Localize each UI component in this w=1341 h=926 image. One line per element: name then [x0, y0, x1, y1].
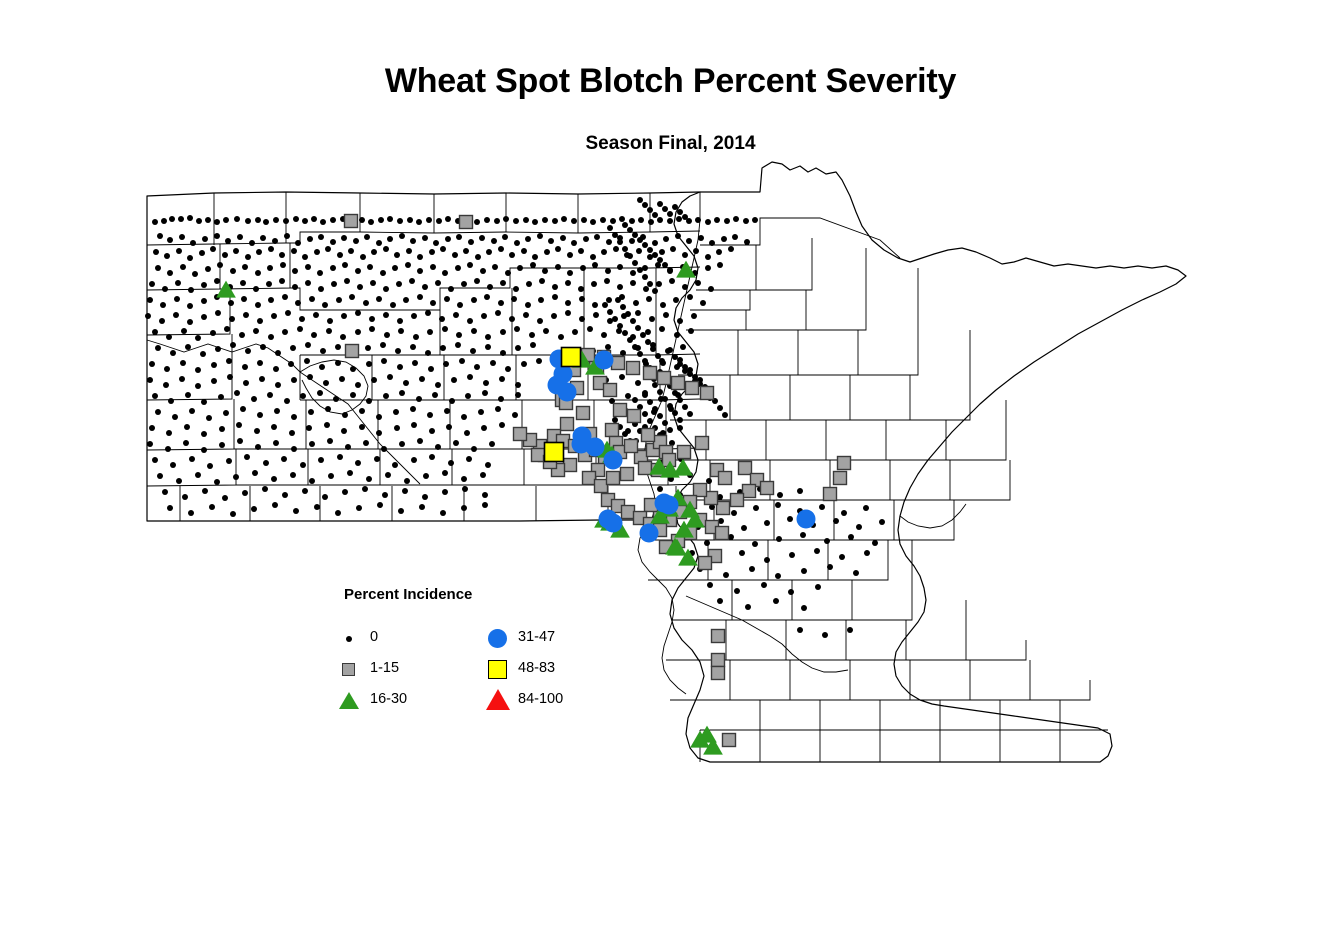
data-point-small-black-dot [214, 233, 220, 239]
data-point-small-black-dot [625, 393, 631, 399]
data-point-gray-square [716, 527, 729, 540]
data-point-small-black-dot [513, 286, 519, 292]
data-point-small-black-dot [187, 215, 193, 221]
data-point-small-black-dot [163, 382, 169, 388]
data-point-small-black-dot [797, 488, 803, 494]
data-point-small-black-dot [174, 296, 180, 302]
data-point-small-black-dot [669, 278, 675, 284]
data-point-yellow-square [545, 443, 564, 462]
data-point-small-black-dot [181, 328, 187, 334]
data-point-small-black-dot [417, 438, 423, 444]
data-point-small-black-dot [366, 398, 372, 404]
data-point-small-black-dot [532, 254, 538, 260]
data-point-small-black-dot [652, 406, 658, 412]
data-point-gray-square [838, 457, 851, 470]
data-point-small-black-dot [637, 351, 643, 357]
data-point-small-black-dot [652, 212, 658, 218]
data-point-small-black-dot [691, 313, 697, 319]
data-point-small-black-dot [552, 284, 558, 290]
data-point-small-black-dot [240, 280, 246, 286]
data-point-small-black-dot [273, 217, 279, 223]
data-point-small-black-dot [288, 361, 294, 367]
data-point-small-black-dot [479, 235, 485, 241]
data-point-small-black-dot [152, 457, 158, 463]
data-point-small-black-dot [827, 564, 833, 570]
data-point-small-black-dot [629, 218, 635, 224]
data-point-small-black-dot [226, 358, 232, 364]
data-point-small-black-dot [648, 219, 654, 225]
data-point-small-black-dot [397, 218, 403, 224]
data-point-small-black-dot [330, 217, 336, 223]
data-point-small-black-dot [383, 246, 389, 252]
data-point-small-black-dot [630, 280, 636, 286]
data-point-small-black-dot [480, 268, 486, 274]
data-point-small-black-dot [207, 463, 213, 469]
data-point-small-black-dot [475, 254, 481, 260]
gray-square-icon [338, 657, 364, 681]
data-point-small-black-dot [663, 312, 669, 318]
data-point-small-black-dot [833, 518, 839, 524]
data-point-small-black-dot [552, 294, 558, 300]
data-point-small-black-dot [376, 296, 382, 302]
data-point-small-black-dot [494, 218, 500, 224]
data-point-small-black-dot [363, 440, 369, 446]
data-point-small-black-dot [167, 270, 173, 276]
data-point-small-black-dot [529, 332, 535, 338]
data-point-small-black-dot [485, 334, 491, 340]
data-point-small-black-dot [662, 396, 668, 402]
data-point-small-black-dot [705, 254, 711, 260]
data-point-small-black-dot [652, 252, 658, 258]
data-point-small-black-dot [511, 296, 517, 302]
data-point-small-black-dot [617, 323, 623, 329]
data-point-small-black-dot [455, 265, 461, 271]
data-point-small-black-dot [304, 358, 310, 364]
data-point-small-black-dot [610, 218, 616, 224]
data-point-small-black-dot [366, 476, 372, 482]
data-point-small-black-dot [242, 490, 248, 496]
data-point-small-black-dot [555, 264, 561, 270]
data-point-blue-circle [604, 451, 623, 470]
data-point-small-black-dot [733, 216, 739, 222]
data-point-small-black-dot [381, 358, 387, 364]
data-point-small-black-dot [622, 246, 628, 252]
data-point-small-black-dot [606, 239, 612, 245]
data-point-small-black-dot [318, 234, 324, 240]
data-point-small-black-dot [271, 313, 277, 319]
data-point-small-black-dot [275, 382, 281, 388]
data-point-small-black-dot [284, 233, 290, 239]
data-point-gray-square [834, 472, 847, 485]
data-point-small-black-dot [432, 392, 438, 398]
data-point-small-black-dot [410, 344, 416, 350]
data-point-small-black-dot [627, 337, 633, 343]
data-point-small-black-dot [271, 476, 277, 482]
data-point-small-black-dot [523, 217, 529, 223]
data-point-small-black-dot [667, 218, 673, 224]
data-point-gray-square [625, 440, 638, 453]
data-point-small-black-dot [275, 350, 281, 356]
data-point-small-black-dot [615, 297, 621, 303]
data-point-small-black-dot [657, 486, 663, 492]
data-point-small-black-dot [647, 418, 653, 424]
data-point-small-black-dot [693, 248, 699, 254]
data-point-small-black-dot [442, 326, 448, 332]
data-point-small-black-dot [293, 508, 299, 514]
data-point-gray-square [719, 472, 732, 485]
data-point-small-black-dot [743, 218, 749, 224]
data-point-small-black-dot [601, 249, 607, 255]
data-point-small-black-dot [629, 238, 635, 244]
data-point-small-black-dot [187, 255, 193, 261]
data-point-small-black-dot [255, 270, 261, 276]
data-point-blue-circle [573, 427, 592, 446]
data-point-small-black-dot [170, 350, 176, 356]
data-point-small-black-dot [605, 268, 611, 274]
data-point-small-black-dot [291, 377, 297, 383]
data-point-small-black-dot [195, 335, 201, 341]
data-point-small-black-dot [410, 406, 416, 412]
data-point-small-black-dot [463, 248, 469, 254]
data-point-small-black-dot [717, 262, 723, 268]
data-point-small-black-dot [267, 265, 273, 271]
data-point-small-black-dot [617, 264, 623, 270]
data-point-small-black-dot [289, 430, 295, 436]
data-point-small-black-dot [700, 300, 706, 306]
data-point-small-black-dot [707, 582, 713, 588]
data-point-gray-square [514, 428, 527, 441]
data-point-small-black-dot [637, 237, 643, 243]
data-point-small-black-dot [182, 494, 188, 500]
data-point-small-black-dot [552, 218, 558, 224]
data-point-small-black-dot [687, 371, 693, 377]
data-point-small-black-dot [205, 217, 211, 223]
data-point-small-black-dot [517, 265, 523, 271]
data-point-small-black-dot [188, 287, 194, 293]
data-point-gray-square [694, 484, 707, 497]
data-point-small-black-dot [548, 238, 554, 244]
data-point-small-black-dot [677, 417, 683, 423]
data-point-small-black-dot [167, 505, 173, 511]
data-point-small-black-dot [642, 358, 648, 364]
data-point-small-black-dot [708, 286, 714, 292]
data-point-small-black-dot [839, 554, 845, 560]
data-point-small-black-dot [399, 390, 405, 396]
data-point-small-black-dot [253, 328, 259, 334]
data-point-small-black-dot [166, 430, 172, 436]
data-point-small-black-dot [657, 217, 663, 223]
data-point-gray-square [561, 418, 574, 431]
data-point-small-black-dot [209, 504, 215, 510]
data-point-small-black-dot [322, 302, 328, 308]
data-point-small-black-dot [514, 326, 520, 332]
data-point-small-black-dot [317, 390, 323, 396]
data-point-small-black-dot [642, 202, 648, 208]
data-point-small-black-dot [179, 376, 185, 382]
data-point-small-black-dot [642, 242, 648, 248]
data-point-small-black-dot [657, 413, 663, 419]
data-point-small-black-dot [189, 456, 195, 462]
data-point-small-black-dot [227, 374, 233, 380]
data-point-small-black-dot [512, 412, 518, 418]
data-point-small-black-dot [647, 207, 653, 213]
data-point-small-black-dot [396, 281, 402, 287]
data-point-small-black-dot [530, 262, 536, 268]
data-point-small-black-dot [716, 249, 722, 255]
data-point-small-black-dot [371, 249, 377, 255]
data-point-small-black-dot [398, 508, 404, 514]
data-point-small-black-dot [164, 253, 170, 259]
data-point-small-black-dot [579, 296, 585, 302]
data-point-small-black-dot [567, 252, 573, 258]
data-point-small-black-dot [717, 598, 723, 604]
data-point-small-black-dot [544, 249, 550, 255]
data-point-gray-square [731, 494, 744, 507]
data-point-small-black-dot [663, 236, 669, 242]
data-point-small-black-dot [260, 344, 266, 350]
data-point-small-black-dot [387, 216, 393, 222]
data-point-small-black-dot [429, 428, 435, 434]
data-point-small-black-dot [355, 310, 361, 316]
data-point-gray-square [717, 502, 730, 515]
data-point-small-black-dot [705, 265, 711, 271]
data-point-gray-square [639, 462, 652, 475]
data-point-small-black-dot [222, 495, 228, 501]
data-point-blue-circle [655, 494, 674, 513]
data-point-small-black-dot [489, 441, 495, 447]
data-point-small-black-dot [672, 354, 678, 360]
data-point-small-black-dot [467, 318, 473, 324]
data-point-small-black-dot [392, 265, 398, 271]
data-point-small-black-dot [656, 281, 662, 287]
data-point-small-black-dot [455, 342, 461, 348]
data-point-small-black-dot [149, 361, 155, 367]
data-point-small-black-dot [495, 406, 501, 412]
data-point-small-black-dot [229, 316, 235, 322]
data-point-small-black-dot [290, 472, 296, 478]
legend-item-label: 31-47 [518, 629, 555, 645]
data-point-small-black-dot [444, 408, 450, 414]
data-point-small-black-dot [223, 217, 229, 223]
data-point-small-black-dot [152, 219, 158, 225]
data-point-small-black-dot [572, 329, 578, 335]
legend-item-label: 0 [370, 629, 378, 645]
data-point-small-black-dot [485, 462, 491, 468]
data-point-small-black-dot [342, 412, 348, 418]
data-point-small-black-dot [279, 278, 285, 284]
data-point-small-black-dot [579, 316, 585, 322]
data-point-small-black-dot [355, 460, 361, 466]
data-point-small-black-dot [419, 504, 425, 510]
data-point-small-black-dot [593, 312, 599, 318]
data-point-small-black-dot [284, 398, 290, 404]
data-point-small-black-dot [500, 329, 506, 335]
data-point-small-black-dot [285, 310, 291, 316]
data-point-small-black-dot [359, 217, 365, 223]
data-point-small-black-dot [788, 589, 794, 595]
data-point-small-black-dot [393, 409, 399, 415]
data-point-small-black-dot [872, 540, 878, 546]
data-point-blue-circle [558, 383, 577, 402]
data-point-small-black-dot [425, 350, 431, 356]
data-point-small-black-dot [640, 332, 646, 338]
data-point-small-black-dot [188, 510, 194, 516]
data-point-small-black-dot [155, 409, 161, 415]
data-point-small-black-dot [244, 454, 250, 460]
data-point-small-black-dot [305, 264, 311, 270]
data-point-small-black-dot [456, 234, 462, 240]
data-point-small-black-dot [325, 406, 331, 412]
data-point-small-black-dot [236, 422, 242, 428]
data-point-small-black-dot [307, 236, 313, 242]
data-point-small-black-dot [815, 584, 821, 590]
data-point-small-black-dot [279, 252, 285, 258]
data-point-small-black-dot [255, 217, 261, 223]
data-point-small-black-dot [176, 478, 182, 484]
data-point-small-black-dot [413, 334, 419, 340]
data-point-small-black-dot [313, 312, 319, 318]
data-point-small-black-dot [280, 262, 286, 268]
data-point-small-black-dot [625, 311, 631, 317]
data-point-small-black-dot [645, 339, 651, 345]
data-point-small-black-dot [347, 470, 353, 476]
data-point-small-black-dot [427, 412, 433, 418]
data-point-small-black-dot [149, 425, 155, 431]
data-point-small-black-dot [601, 332, 607, 338]
data-point-small-black-dot [230, 342, 236, 348]
data-point-small-black-dot [435, 444, 441, 450]
data-point-small-black-dot [606, 297, 612, 303]
data-point-small-black-dot [657, 201, 663, 207]
data-point-small-black-dot [335, 344, 341, 350]
data-point-small-black-dot [311, 216, 317, 222]
data-point-small-black-dot [440, 246, 446, 252]
data-point-small-black-dot [537, 233, 543, 239]
data-point-gray-square [622, 506, 635, 519]
data-point-small-black-dot [602, 302, 608, 308]
data-point-small-black-dot [325, 246, 331, 252]
data-point-small-black-dot [230, 511, 236, 517]
data-point-small-black-dot [667, 427, 673, 433]
data-point-small-black-dot [613, 246, 619, 252]
state-map-svg [0, 0, 1341, 926]
data-point-small-black-dot [468, 239, 474, 245]
data-point-small-black-dot [210, 330, 216, 336]
data-point-small-black-dot [272, 502, 278, 508]
data-point-small-black-dot [422, 284, 428, 290]
data-point-small-black-dot [383, 393, 389, 399]
data-point-small-black-dot [214, 278, 220, 284]
data-point-small-black-dot [456, 332, 462, 338]
data-point-small-black-dot [350, 366, 356, 372]
data-point-gray-square [606, 424, 619, 437]
data-point-gray-square [644, 367, 657, 380]
data-point-small-black-dot [667, 403, 673, 409]
data-point-small-black-dot [457, 302, 463, 308]
data-point-small-black-dot [219, 442, 225, 448]
data-point-small-black-dot [384, 332, 390, 338]
data-point-small-black-dot [619, 216, 625, 222]
data-point-small-black-dot [262, 486, 268, 492]
data-point-gray-square [678, 446, 691, 459]
data-point-small-black-dot [594, 234, 600, 240]
data-point-small-black-dot [411, 313, 417, 319]
data-point-gray-square [686, 382, 699, 395]
data-point-small-black-dot [864, 550, 870, 556]
data-point-blue-circle [797, 510, 816, 529]
data-point-small-black-dot [341, 428, 347, 434]
data-point-gray-square [761, 482, 774, 495]
data-point-small-black-dot [201, 431, 207, 437]
data-point-small-black-dot [537, 318, 543, 324]
data-point-small-black-dot [376, 240, 382, 246]
data-point-small-black-dot [350, 392, 356, 398]
data-point-small-black-dot [453, 312, 459, 318]
blue-circle-icon [486, 626, 512, 650]
data-point-small-black-dot [155, 345, 161, 351]
data-point-small-black-dot [619, 374, 625, 380]
data-point-small-black-dot [425, 310, 431, 316]
data-point-small-black-dot [471, 328, 477, 334]
data-point-small-black-dot [449, 398, 455, 404]
data-point-small-black-dot [322, 494, 328, 500]
data-point-small-black-dot [632, 232, 638, 238]
data-point-small-black-dot [672, 390, 678, 396]
data-point-small-black-dot [226, 458, 232, 464]
data-point-small-black-dot [617, 284, 623, 290]
data-point-small-black-dot [292, 268, 298, 274]
data-point-small-black-dot [353, 238, 359, 244]
data-point-small-black-dot [335, 510, 341, 516]
data-point-small-black-dot [442, 470, 448, 476]
data-point-gray-square [743, 485, 756, 498]
data-point-small-black-dot [147, 297, 153, 303]
data-point-small-black-dot [775, 502, 781, 508]
data-point-small-black-dot [369, 316, 375, 322]
data-point-small-black-dot [335, 360, 341, 366]
data-point-small-black-dot [505, 366, 511, 372]
data-point-small-black-dot [637, 267, 643, 273]
data-point-small-black-dot [180, 264, 186, 270]
data-point-small-black-dot [355, 329, 361, 335]
data-point-small-black-dot [178, 216, 184, 222]
data-point-small-black-dot [745, 604, 751, 610]
data-point-small-black-dot [392, 462, 398, 468]
data-point-small-black-dot [411, 422, 417, 428]
data-point-gray-square [627, 362, 640, 375]
data-point-small-black-dot [383, 312, 389, 318]
data-point-small-black-dot [160, 302, 166, 308]
data-point-small-black-dot [385, 472, 391, 478]
data-point-small-black-dot [157, 473, 163, 479]
data-point-small-black-dot [445, 236, 451, 242]
data-point-small-black-dot [257, 360, 263, 366]
data-point-small-black-dot [333, 396, 339, 402]
data-point-small-black-dot [705, 219, 711, 225]
data-point-small-black-dot [255, 444, 261, 450]
data-point-small-black-dot [291, 414, 297, 420]
data-point-small-black-dot [422, 235, 428, 241]
data-point-small-black-dot [498, 246, 504, 252]
data-point-small-black-dot [789, 552, 795, 558]
data-point-small-black-dot [612, 316, 618, 322]
data-point-small-black-dot [387, 236, 393, 242]
data-point-small-black-dot [677, 209, 683, 215]
data-point-small-black-dot [366, 361, 372, 367]
data-point-small-black-dot [776, 536, 782, 542]
data-point-small-black-dot [293, 216, 299, 222]
data-point-small-black-dot [500, 350, 506, 356]
